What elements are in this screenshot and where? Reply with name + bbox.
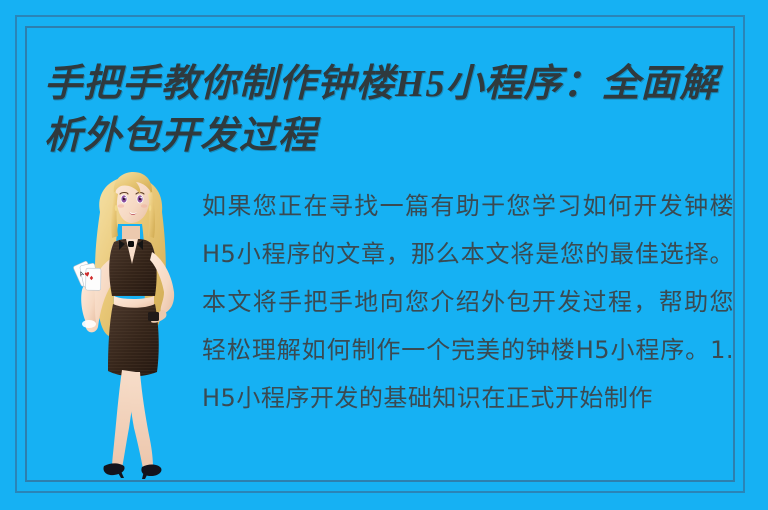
- promo-banner: A ♥ ♦: [0, 0, 768, 510]
- banner-body-text: 如果您正在寻找一篇有助于您学习如何开发钟楼H5小程序的文章，那么本文将是您的最佳…: [202, 182, 734, 422]
- svg-text:♦: ♦: [89, 275, 95, 282]
- banner-title: 手把手教你制作钟楼H5小程序：全面解析外包开发过程: [44, 58, 744, 162]
- anime-woman-with-playing-cards-illustration: A ♥ ♦: [56, 172, 206, 482]
